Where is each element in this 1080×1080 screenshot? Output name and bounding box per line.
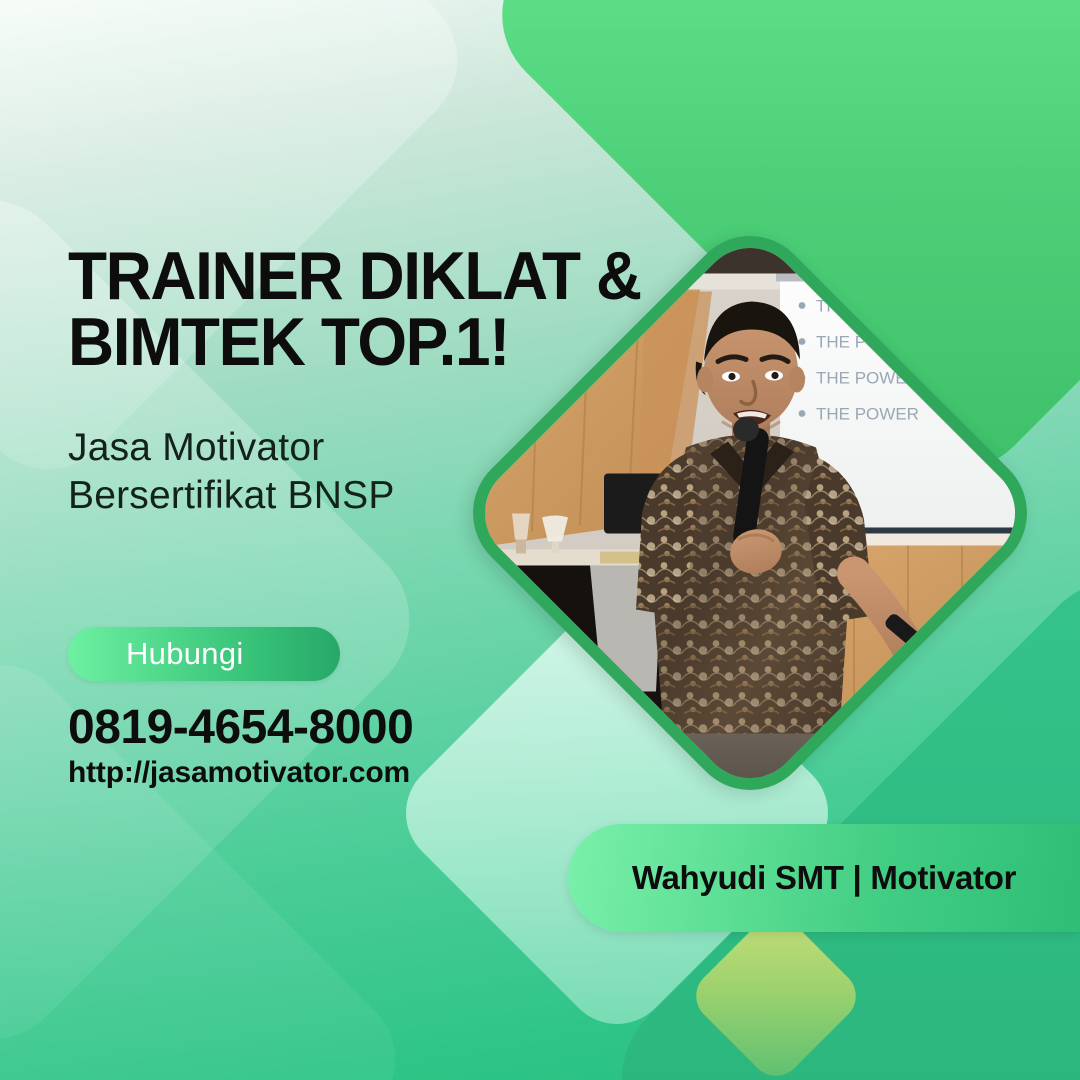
subtitle-line-1: Jasa Motivator — [68, 424, 588, 472]
svg-text:THE POWER: THE POWER — [816, 368, 919, 387]
svg-text:THE POWER: THE POWER — [816, 404, 919, 423]
cta-label: Hubungi — [126, 636, 244, 672]
page-title: TRAINER DIKLAT & BIMTEK TOP.1! — [68, 244, 613, 376]
phone-number[interactable]: 0819-4654-8000 — [68, 700, 413, 755]
poster-canvas: THE POWER THE POWER THE POWER THE POWER — [0, 0, 1080, 1080]
contact-cta-button[interactable]: Hubungi — [68, 627, 340, 681]
subtitle-line-2: Bersertifikat BNSP — [68, 472, 588, 520]
headline-line-2: BIMTEK TOP.1! — [68, 310, 613, 376]
presenter-name: Wahyudi SMT | Motivator — [632, 859, 1016, 897]
svg-text:THE POWER: THE POWER — [816, 296, 919, 315]
headline-line-1: TRAINER DIKLAT & — [68, 244, 613, 310]
svg-text:THE POWER: THE POWER — [816, 332, 919, 351]
subtitle: Jasa Motivator Bersertifikat BNSP — [68, 424, 588, 519]
website-url[interactable]: http://jasamotivator.com — [68, 756, 410, 790]
presenter-name-banner: Wahyudi SMT | Motivator — [568, 824, 1080, 932]
